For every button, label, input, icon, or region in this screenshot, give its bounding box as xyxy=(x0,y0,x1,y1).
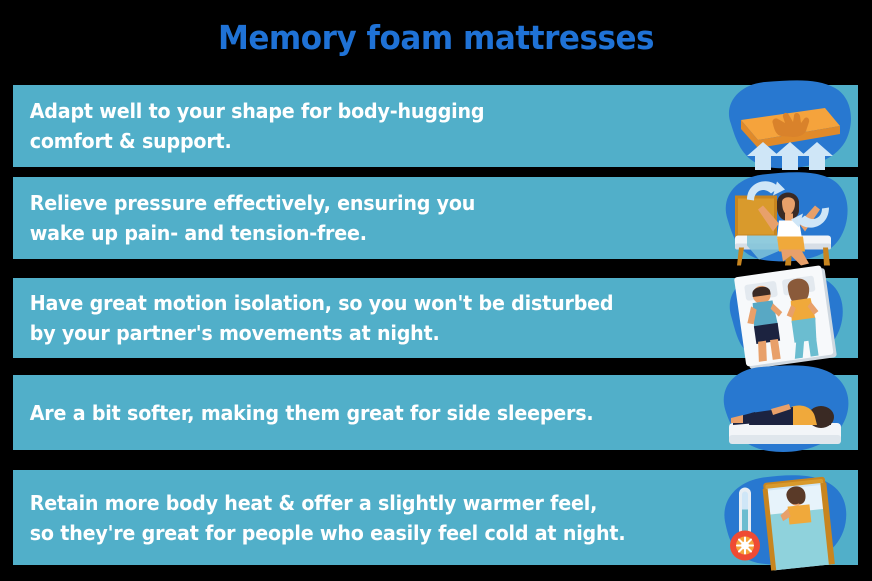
mattress-hand-imprint-arrows-icon xyxy=(713,85,858,167)
feature-text-pressure-relief: Relieve pressure effectively, ensuring y… xyxy=(13,188,664,248)
couple-sleeping-top-view-icon xyxy=(713,278,858,358)
feature-text-softer-side-sleepers: Are a bit softer, making them great for … xyxy=(13,398,664,428)
feature-row-adapt-to-shape: Adapt well to your shape for body-huggin… xyxy=(13,85,858,167)
thermometer-and-bed-icon xyxy=(713,470,858,565)
woman-stretching-on-bed-icon xyxy=(713,177,858,259)
page-title: Memory foam mattresses xyxy=(26,18,846,57)
feature-row-softer-side-sleepers: Are a bit softer, making them great for … xyxy=(13,375,858,450)
side-sleeper-on-mattress-icon xyxy=(713,375,858,450)
feature-row-motion-isolation: Have great motion isolation, so you won'… xyxy=(13,278,858,358)
feature-text-adapt-to-shape: Adapt well to your shape for body-huggin… xyxy=(13,96,664,156)
feature-text-motion-isolation: Have great motion isolation, so you won'… xyxy=(13,288,664,348)
feature-row-retains-heat: Retain more body heat & offer a slightly… xyxy=(13,470,858,565)
feature-row-pressure-relief: Relieve pressure effectively, ensuring y… xyxy=(13,177,858,259)
infographic-root: Memory foam mattresses Adapt well to you… xyxy=(0,0,872,581)
feature-text-retains-heat: Retain more body heat & offer a slightly… xyxy=(13,488,664,548)
